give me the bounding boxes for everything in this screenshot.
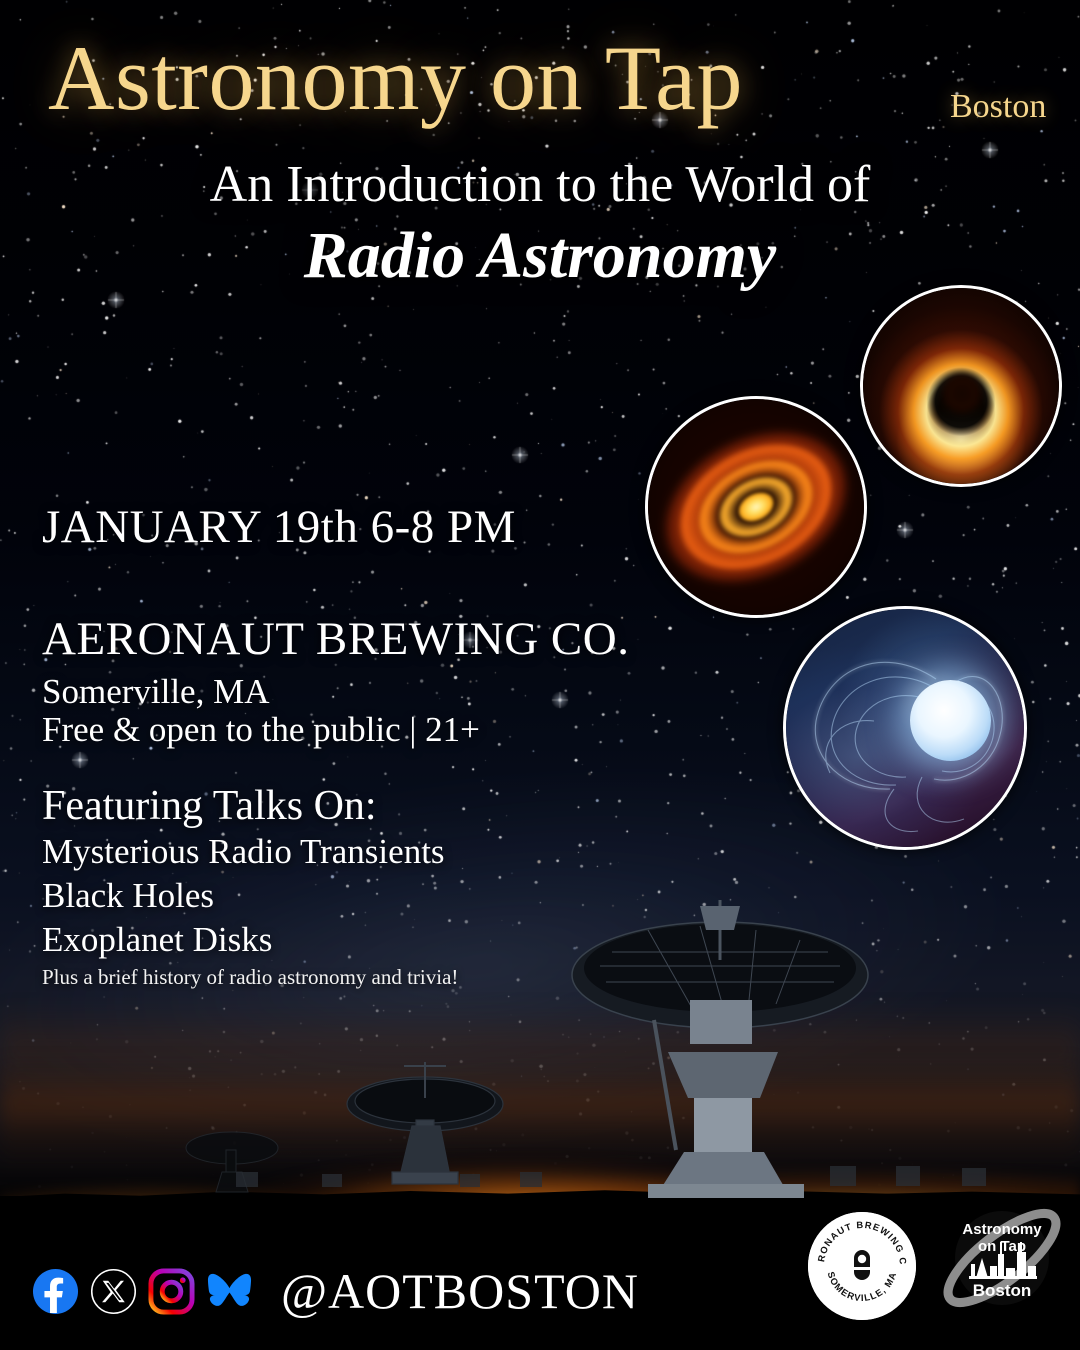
protoplanetary-disk-image	[645, 396, 867, 618]
talks-list: Mysterious Radio Transients Black Holes …	[42, 830, 445, 962]
magnetar-image	[783, 606, 1027, 850]
program-note: Plus a brief history of radio astronomy …	[42, 965, 458, 990]
brand-city-tag: Boston	[950, 88, 1046, 126]
aeronaut-brewing-logo: AERONAUT BREWING CO. SOMERVILLE, MA	[808, 1212, 916, 1320]
instagram-icon[interactable]	[148, 1268, 195, 1315]
program-heading: Featuring Talks On:	[42, 782, 377, 830]
event-poster: Astronomy on Tap Boston An Introduction …	[0, 0, 1080, 1350]
social-handle: @AOTBOSTON	[281, 1262, 639, 1320]
astronomy-on-tap-logo: Astronomy on Tap Boston	[938, 1196, 1070, 1328]
social-row: @AOTBOSTON	[32, 1262, 639, 1320]
event-admission: Free & open to the public | 21+	[42, 710, 480, 750]
facebook-icon[interactable]	[32, 1268, 79, 1315]
event-datetime: JANUARY 19th 6-8 PM	[42, 500, 516, 554]
aot-logo-line3: Boston	[973, 1281, 1032, 1300]
black-hole-image	[860, 285, 1062, 487]
talk-item: Black Holes	[42, 874, 445, 918]
main-radio-dish	[572, 900, 868, 1198]
talk-item: Mysterious Radio Transients	[42, 830, 445, 874]
event-venue: AERONAUT BREWING CO.	[42, 612, 629, 666]
subtitle-line-1: An Introduction to the World of	[0, 155, 1080, 214]
aot-logo-line1: Astronomy	[962, 1221, 1042, 1238]
talk-item: Exoplanet Disks	[42, 918, 445, 962]
event-city: Somerville, MA	[42, 672, 269, 712]
x-twitter-icon[interactable]	[90, 1268, 137, 1315]
bluesky-icon[interactable]	[206, 1268, 253, 1315]
subtitle-line-2: Radio Astronomy	[0, 218, 1080, 294]
page-title: Astronomy on Tap	[48, 32, 743, 124]
